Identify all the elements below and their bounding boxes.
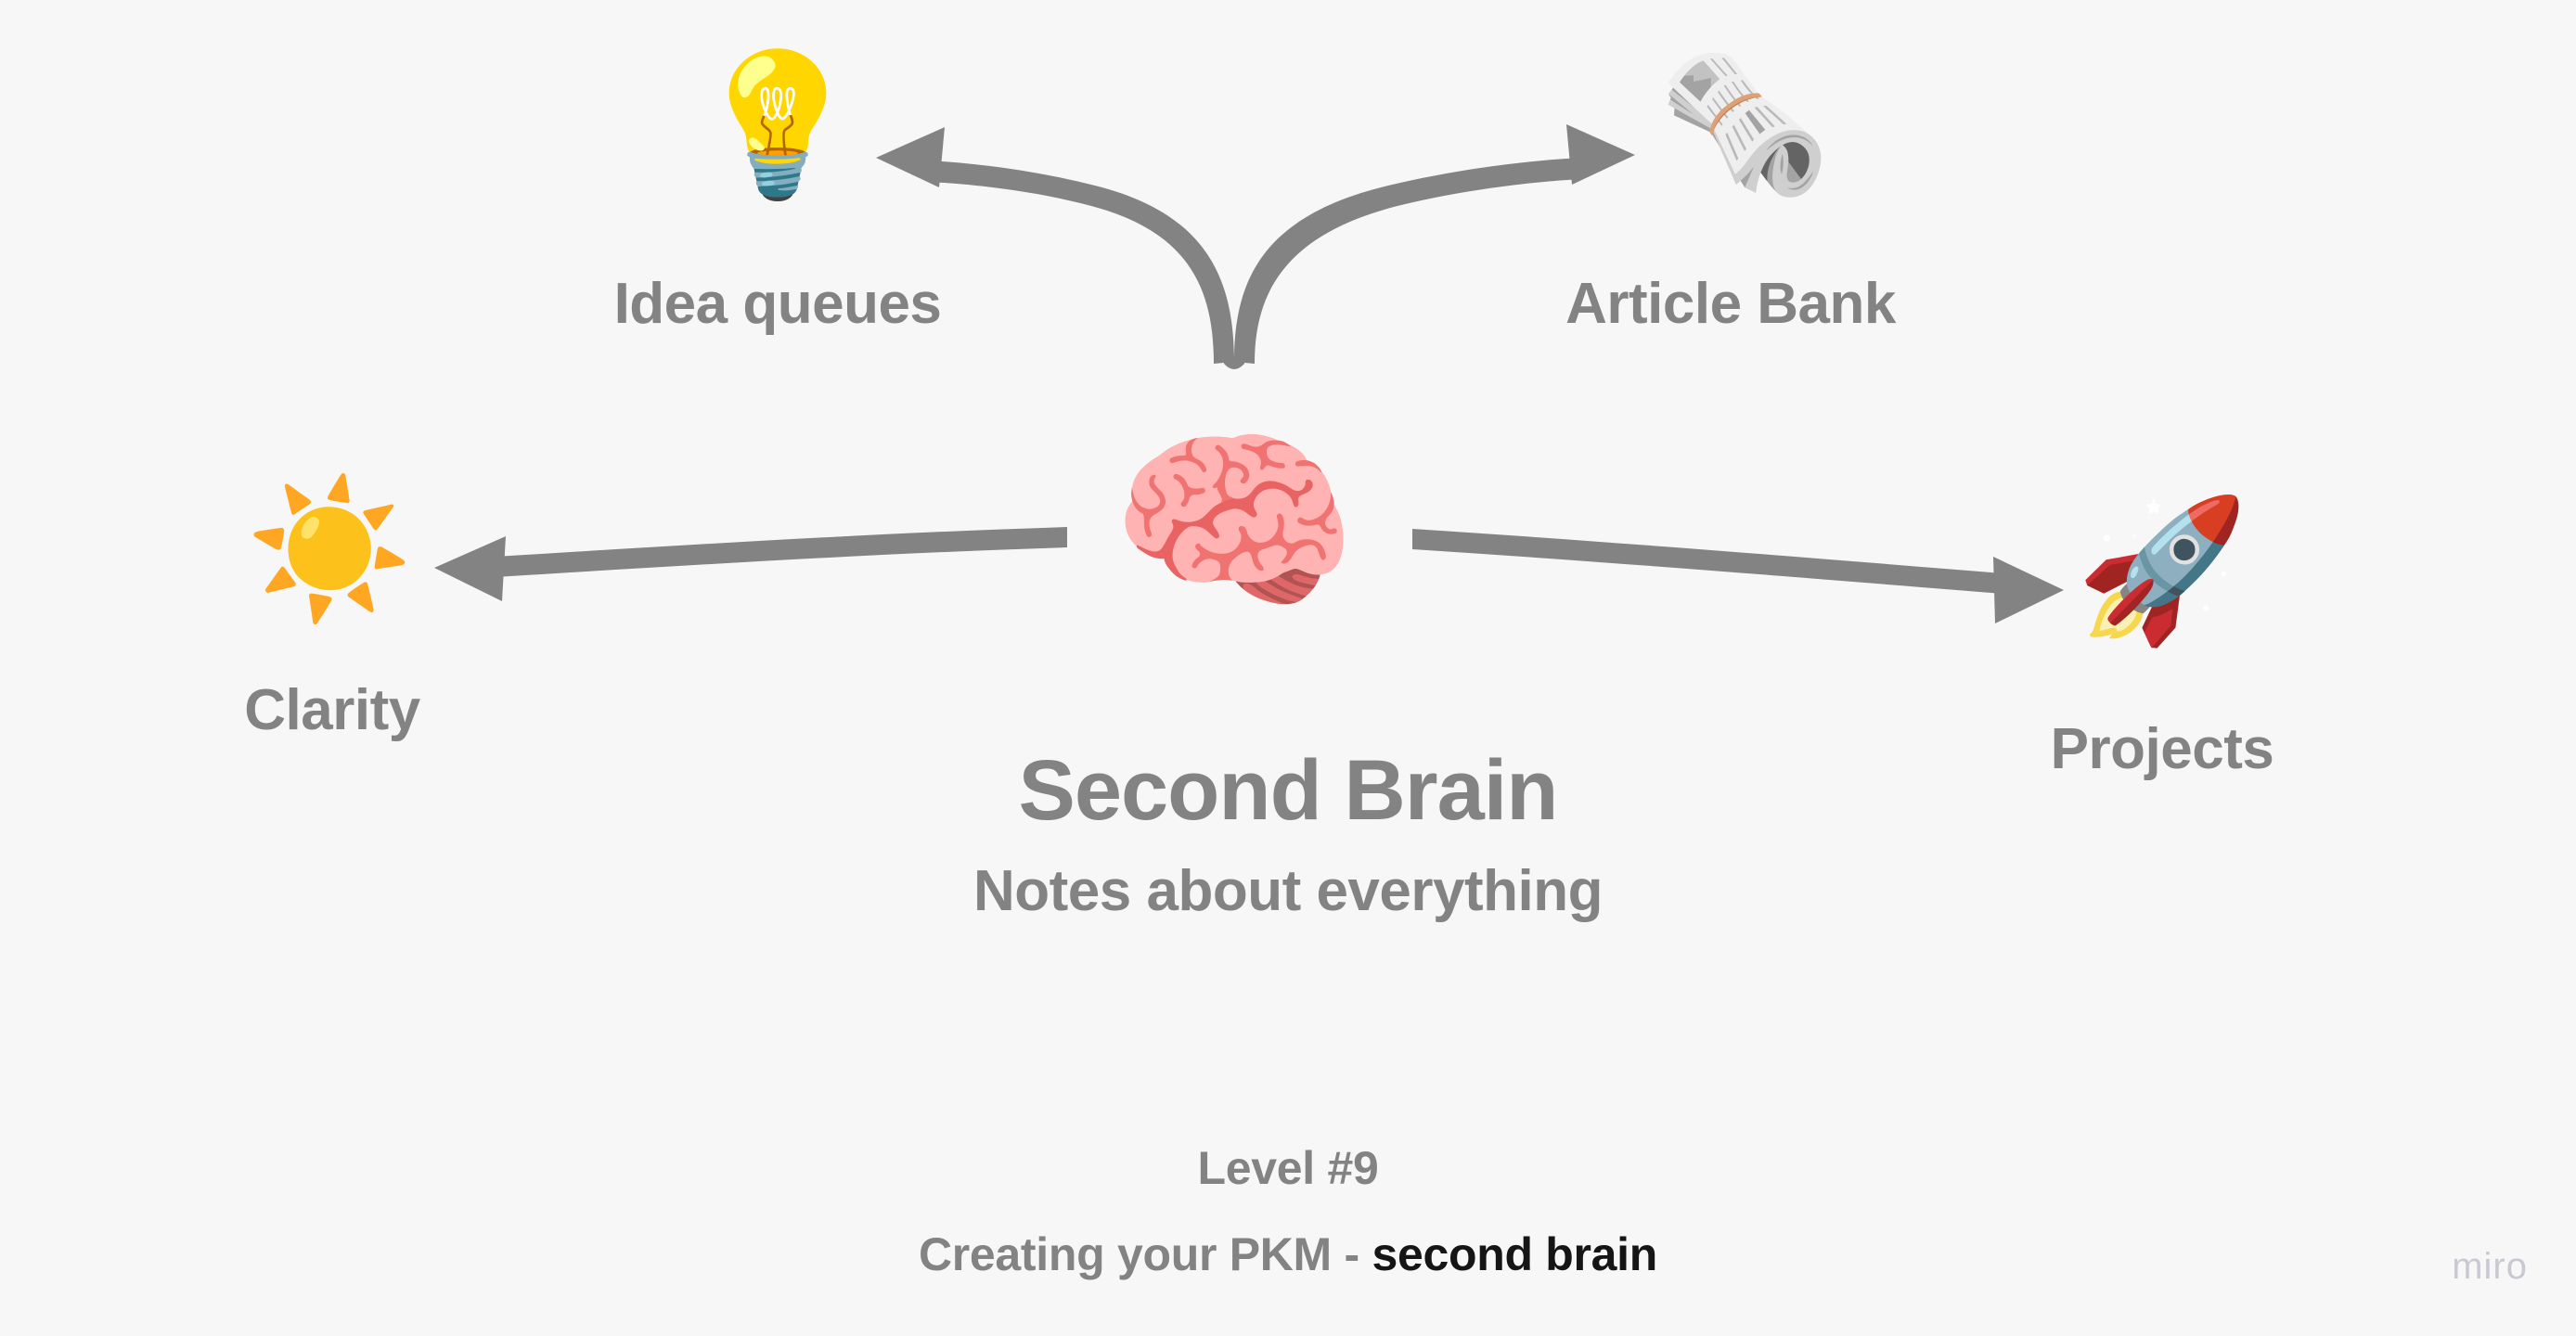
node-label-clarity: Clarity — [0, 677, 703, 743]
lightbulb-emoji: 💡 — [685, 56, 870, 195]
footer-level: Level #9 — [0, 1143, 2576, 1194]
connector-layer — [0, 0, 2576, 1336]
sun-emoji: ☀️ — [241, 482, 418, 617]
connector-left-body — [496, 527, 1067, 577]
connector-left-arrowhead — [434, 536, 506, 601]
footer-caption-prefix: Creating your PKM - — [919, 1228, 1372, 1280]
rocket-emoji: 🚀 — [2074, 501, 2250, 640]
center-subtitle: Notes about everything — [0, 858, 2576, 924]
fork-left-arrowhead — [876, 127, 945, 187]
footer-caption-line: Creating your PKM - second brain — [0, 1229, 2576, 1280]
fork-stem — [1224, 357, 1244, 369]
footer-caption: Level #9 Creating your PKM - second brai… — [0, 1143, 2576, 1280]
footer-caption-strong: second brain — [1372, 1228, 1657, 1280]
center-title: Second Brain — [0, 742, 2576, 840]
connector-right-body — [1412, 529, 2003, 594]
connector-brain-to-clarity — [434, 527, 1067, 601]
connector-brain-to-projects — [1412, 529, 2064, 623]
miro-watermark: miro — [2452, 1246, 2528, 1288]
node-label-article-bank: Article Bank — [1359, 271, 2102, 337]
fork-right-arrowhead — [1566, 124, 1635, 185]
brain-emoji: 🧠 — [1104, 422, 1364, 622]
node-label-idea-queues: Idea queues — [406, 271, 1149, 337]
connector-right-arrowhead — [1993, 557, 2064, 623]
rolled-newspaper-emoji: 🗞️ — [1652, 56, 1837, 195]
board-canvas: 💡 🗞️ 🧠 ☀️ 🚀 Idea queues Article Bank Cla… — [0, 0, 2576, 1336]
